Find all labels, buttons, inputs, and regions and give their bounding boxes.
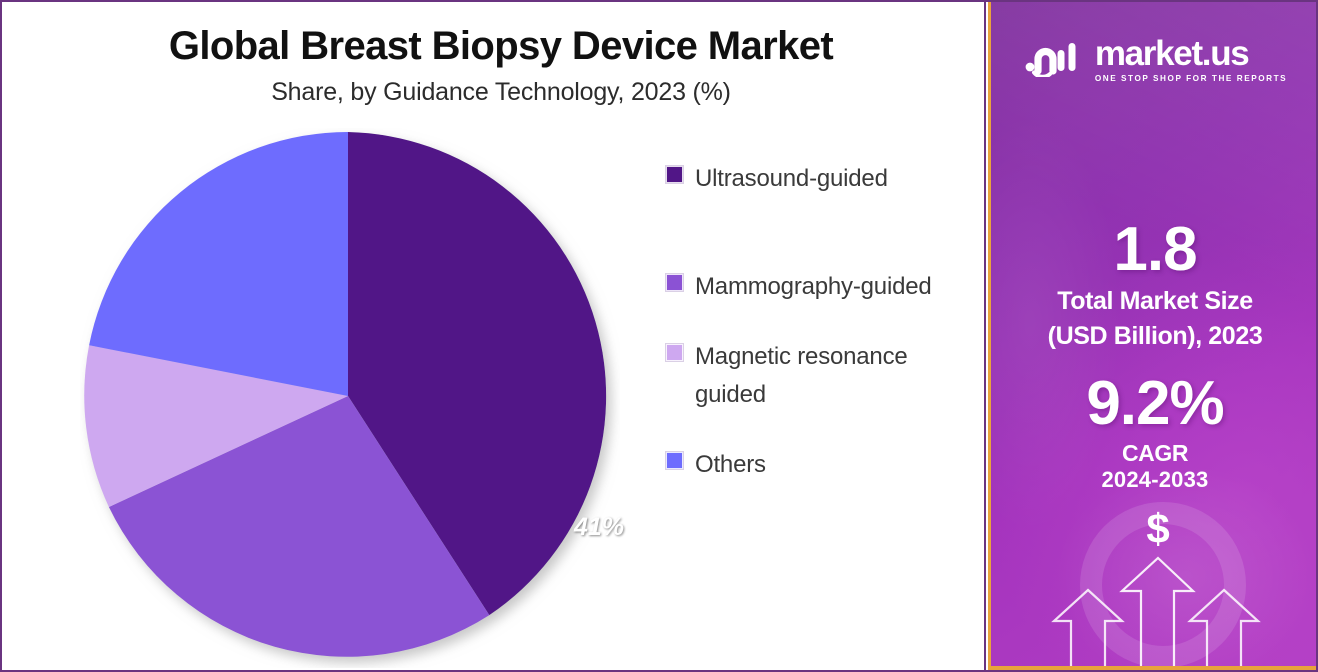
chart-panel: Global Breast Biopsy Device Market Share… <box>2 2 986 670</box>
market-size-value: 1.8 <box>991 218 1316 281</box>
chart-header: Global Breast Biopsy Device Market Share… <box>2 24 986 107</box>
legend-label-mammography-guided: Mammography-guided <box>695 268 932 306</box>
legend-item-magnetic-resonance-guided[interactable]: Magnetic resonance guided <box>666 338 976 414</box>
legend-swatch-icon-magnetic-resonance-guided <box>666 344 683 361</box>
page-subtitle: Share, by Guidance Technology, 2023 (%) <box>16 78 986 107</box>
legend-swatch-icon-others <box>666 452 683 469</box>
brand-logo[interactable]: market.us ONE STOP SHOP FOR THE REPORTS <box>991 36 1316 83</box>
legend-swatch-icon-ultrasound-guided <box>666 166 683 183</box>
pie-chart-svg <box>80 128 620 668</box>
brand-name: market.us <box>1095 36 1249 71</box>
legend-item-others[interactable]: Others <box>666 446 976 484</box>
growth-arrows-graphic: $ <box>991 495 1316 670</box>
brand-tagline: ONE STOP SHOP FOR THE REPORTS <box>1095 74 1287 83</box>
pie-slice-label-ultrasound: 41% <box>574 513 624 542</box>
dollar-sign-icon: $ <box>1146 505 1169 552</box>
cagr-range: 2024-2033 <box>991 467 1316 493</box>
cagr-value: 9.2% <box>991 372 1316 435</box>
market-size-caption-line2: (USD Billion), 2023 <box>991 322 1316 351</box>
legend-item-mammography-guided[interactable]: Mammography-guided <box>666 268 976 306</box>
market-us-logo-icon <box>1023 37 1085 82</box>
pie-slices <box>84 132 606 657</box>
market-size-caption-line1: Total Market Size <box>991 287 1316 316</box>
chart-legend: Ultrasound-guided Mammography-guided Mag… <box>666 160 976 484</box>
brand-text-block: market.us ONE STOP SHOP FOR THE REPORTS <box>1095 36 1287 83</box>
legend-label-others: Others <box>695 446 766 484</box>
cagr-caption: CAGR <box>991 440 1316 467</box>
legend-label-magnetic-resonance-guided: Magnetic resonance guided <box>695 338 976 414</box>
stats-body: 1.8 Total Market Size (USD Billion), 202… <box>991 218 1316 493</box>
pie-chart: 41% <box>80 128 620 668</box>
stats-panel: market.us ONE STOP SHOP FOR THE REPORTS … <box>988 2 1316 670</box>
legend-label-ultrasound-guided: Ultrasound-guided <box>695 160 888 198</box>
legend-item-ultrasound-guided[interactable]: Ultrasound-guided <box>666 160 976 198</box>
infographic-root: Global Breast Biopsy Device Market Share… <box>0 0 1318 672</box>
growth-arrows-svg: $ <box>991 495 1316 670</box>
legend-swatch-icon-mammography-guided <box>666 274 683 291</box>
page-title: Global Breast Biopsy Device Market <box>16 24 986 69</box>
